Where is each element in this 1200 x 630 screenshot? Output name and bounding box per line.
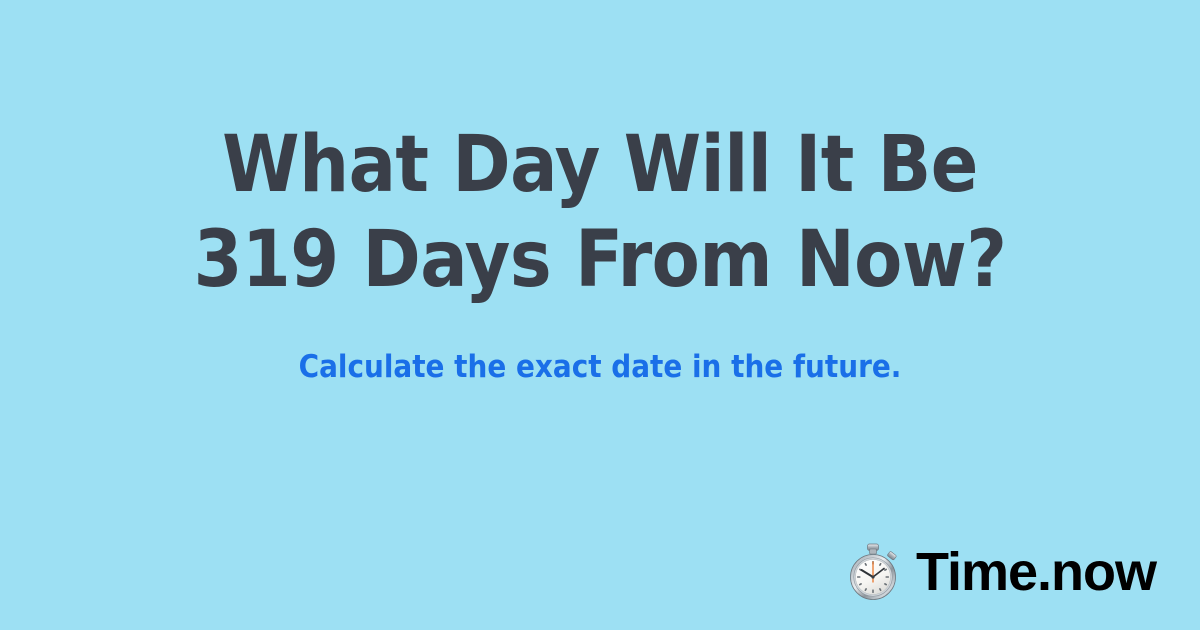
open-graph-card: What Day Will It Be 319 Days From Now? C…	[0, 0, 1200, 630]
hero-text-block: What Day Will It Be 319 Days From Now? C…	[0, 118, 1200, 386]
page-subtitle: Calculate the exact date in the future.	[0, 348, 1200, 386]
page-title-line-2: 319 Days From Now?	[0, 213, 1200, 308]
brand-name: Time.now	[916, 543, 1156, 601]
brand-logo[interactable]: Time.now	[844, 542, 1156, 602]
page-title: What Day Will It Be 319 Days From Now?	[0, 118, 1200, 308]
page-title-line-1: What Day Will It Be	[0, 118, 1200, 213]
stopwatch-icon	[844, 542, 902, 602]
